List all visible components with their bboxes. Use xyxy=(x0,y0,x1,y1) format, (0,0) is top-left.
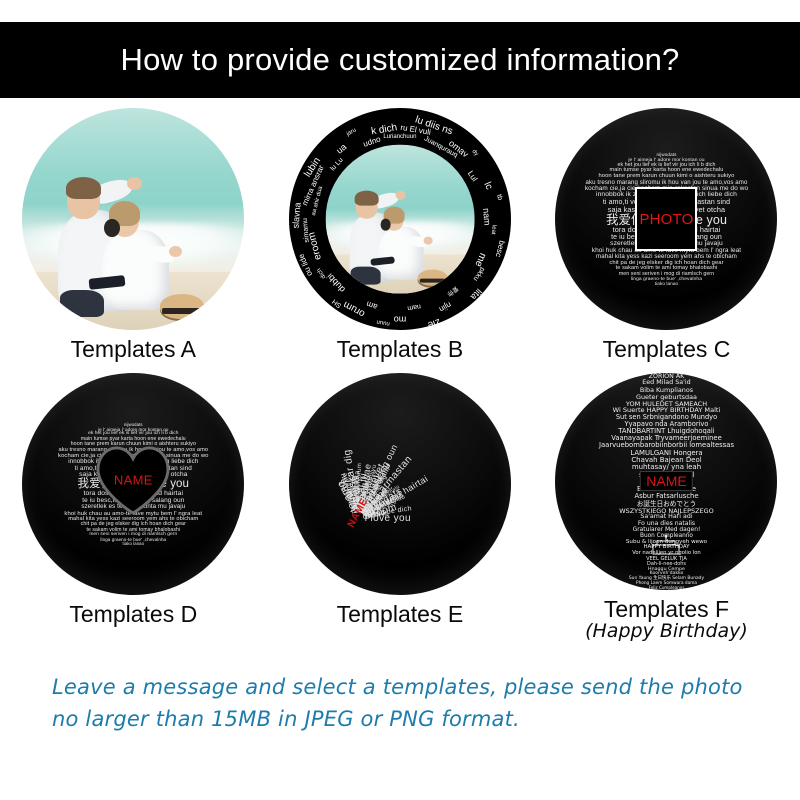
love-text-line: tiako lanao xyxy=(655,282,678,287)
straw-hat-shape xyxy=(160,294,204,318)
beach-couple-photo xyxy=(326,145,475,294)
template-a-caption: Templates A xyxy=(71,337,196,361)
ring-word: tb xyxy=(495,194,503,201)
template-c-caption: Templates C xyxy=(603,337,731,361)
ring-word: nam xyxy=(407,302,422,311)
love-text-line: tiako lanao xyxy=(123,542,145,546)
template-c-disc[interactable]: nijwodatsje l' aimeja l' adore mor konta… xyxy=(555,108,777,330)
ring-word: simamu xyxy=(302,218,311,243)
template-f-birthday-disc: வாழ்த்துக்கள்Hau'oli la hanauZORION AKEe… xyxy=(555,373,777,590)
ring-word: njin xyxy=(437,300,452,314)
template-d-love-disc: nijwodatsje l' aimeja l' adore mor konta… xyxy=(22,373,244,595)
ring-word: slavna xyxy=(290,202,302,229)
man-hand-shape xyxy=(395,191,405,200)
template-e-burst-disc: ich liebe dichte amoje t'aimei love youk… xyxy=(289,373,511,595)
name-placeholder-label: NAME xyxy=(114,472,153,487)
template-a-disc[interactable] xyxy=(22,108,244,330)
template-d-disc[interactable]: nijwodatsje l' aimeja l' adore mor konta… xyxy=(22,373,244,595)
photo-placeholder-label: PHOTO xyxy=(639,211,693,228)
template-f-disc[interactable]: வாழ்த்துக்கள்Hau'oli la hanauZORION AKEe… xyxy=(555,373,777,590)
template-d-caption: Templates D xyxy=(69,602,197,626)
template-f-subcaption: (Happy Birthday) xyxy=(585,621,748,643)
template-b-caption: Templates B xyxy=(337,337,464,361)
ring-word: mo xyxy=(394,315,407,325)
template-b-disc[interactable]: Lurianchuunru El vulilu diis nsJuanqurau… xyxy=(289,108,511,330)
template-card-a[interactable]: Templates A xyxy=(0,108,267,373)
woman-hand-shape xyxy=(169,246,182,257)
footer-line-1: Leave a message and select a templates, … xyxy=(52,672,748,704)
footer-note: Leave a message and select a templates, … xyxy=(0,672,800,736)
header-banner: How to provide customized information? xyxy=(0,22,800,98)
template-card-d[interactable]: nijwodatsje l' aimeja l' adore mor konta… xyxy=(0,373,267,643)
ring-word: jaru xyxy=(346,127,358,137)
man-hand-shape xyxy=(127,177,143,190)
woman-hairbun-shape xyxy=(104,219,120,237)
ring-word: orum xyxy=(342,299,367,320)
template-f-caption: Templates F xyxy=(604,597,729,621)
ring-word: nuun xyxy=(376,318,390,326)
template-b-word-ring: Lurianchuunru El vulilu diis nsJuanqurau… xyxy=(289,108,511,330)
man-hair-shape xyxy=(66,177,102,199)
template-c-love-disc: nijwodatsje l' aimeja l' adore mor konta… xyxy=(555,108,777,330)
ring-word: besc xyxy=(494,240,507,259)
birthday-cake-icon xyxy=(649,535,683,555)
template-card-f[interactable]: வாழ்த்துக்கள்Hau'oli la hanauZORION AKEe… xyxy=(533,373,800,643)
woman-body-shape xyxy=(102,230,169,310)
ring-word: lc xyxy=(481,180,494,191)
ring-word: leat xyxy=(490,225,497,235)
template-card-e[interactable]: ich liebe dichte amoje t'aimei love youk… xyxy=(267,373,534,643)
radial-word-burst: ich liebe dichte amoje t'aimei love youk… xyxy=(289,373,511,595)
hat-band-shape xyxy=(162,308,202,315)
template-e-disc[interactable]: ich liebe dichte amoje t'aimei love youk… xyxy=(289,373,511,595)
template-card-c[interactable]: nijwodatsje l' aimeja l' adore mor konta… xyxy=(533,108,800,373)
page-title: How to provide customized information? xyxy=(121,42,680,78)
ring-word: zie xyxy=(426,316,442,330)
ring-word: am xyxy=(365,299,378,311)
man-leg-shape xyxy=(351,267,381,285)
beach-couple-photo xyxy=(22,108,244,330)
ring-word: Lurianchuun xyxy=(383,134,416,140)
woman-hand-shape xyxy=(424,237,433,244)
template-b-photo-circle xyxy=(326,145,475,294)
template-grid: Templates A Lurianchuunru El vulilu diis… xyxy=(0,108,800,643)
woman-body-shape xyxy=(379,226,424,280)
template-card-b[interactable]: Lurianchuunru El vulilu diis nsJuanqurau… xyxy=(267,108,534,373)
name-placeholder-label: NAME xyxy=(640,471,692,491)
hat-band-shape xyxy=(419,278,446,282)
man-leg-shape xyxy=(60,290,104,317)
template-a-photo-circle xyxy=(22,108,244,330)
ring-word: nam xyxy=(481,208,492,226)
photo-placeholder-box[interactable]: PHOTO xyxy=(635,187,697,251)
template-e-caption: Templates E xyxy=(337,602,464,626)
footer-line-2: no larger than 15MB in JPEG or PNG forma… xyxy=(52,704,748,736)
man-hair-shape xyxy=(355,191,379,206)
burst-word: i love you xyxy=(365,513,411,524)
